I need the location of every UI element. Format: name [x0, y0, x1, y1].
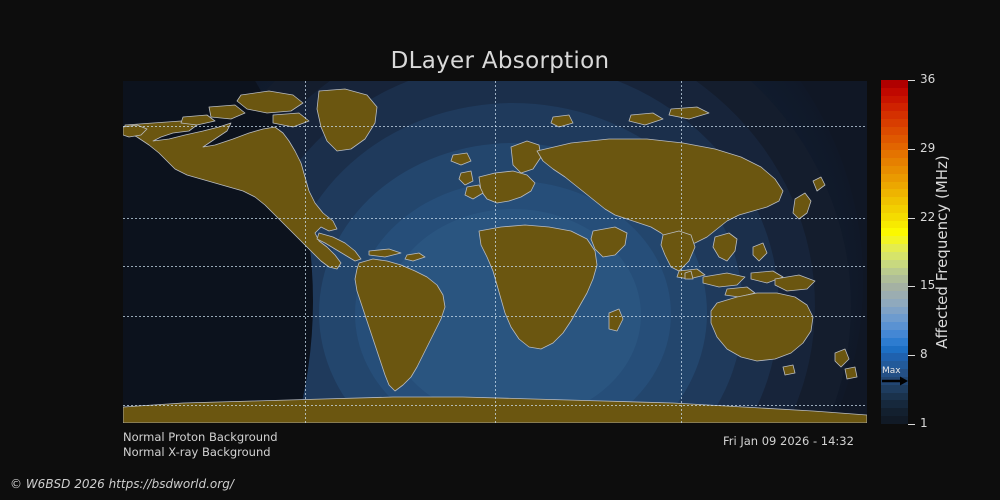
- arrow-right-icon: [882, 375, 908, 387]
- timestamp: Fri Jan 09 2026 - 14:32: [723, 434, 854, 448]
- colorbar-segment: [881, 143, 908, 151]
- status-xray-background: Normal X-ray Background: [123, 445, 271, 459]
- colorbar-segment: [881, 268, 908, 276]
- colorbar-max-marker: Max: [881, 366, 909, 388]
- colorbar-segment: [881, 182, 908, 190]
- colorbar-segment: [881, 314, 908, 322]
- colorbar-segment: [881, 127, 908, 135]
- colorbar-segment: [881, 221, 908, 229]
- colorbar-tick-label: 1: [920, 416, 928, 430]
- colorbar-segment: [881, 88, 908, 96]
- colorbar-segment: [881, 228, 908, 236]
- colorbar-segment: [881, 353, 908, 361]
- colorbar-segment: [881, 213, 908, 221]
- colorbar-segment: [881, 189, 908, 197]
- colorbar-segment: [881, 400, 908, 408]
- colorbar-segment: [881, 150, 908, 158]
- colorbar-segment: [881, 299, 908, 307]
- status-proton-background: Normal Proton Background: [123, 430, 278, 444]
- colorbar-segment: [881, 307, 908, 315]
- colorbar-segment: [881, 236, 908, 244]
- colorbar-segment: [881, 119, 908, 127]
- colorbar-segment: [881, 252, 908, 260]
- app-root: DLayer Absorption: [0, 0, 1000, 500]
- gridline-meridian-west: [305, 81, 306, 423]
- colorbar-segment: [881, 393, 908, 401]
- colorbar-segment: [881, 103, 908, 111]
- colorbar-segment: [881, 205, 908, 213]
- colorbar-segment: [881, 111, 908, 119]
- colorbar-segment: [881, 283, 908, 291]
- colorbar-segment: [881, 96, 908, 104]
- colorbar-axis-label: Affected Frequency (MHz): [932, 80, 952, 424]
- copyright-notice: © W6BSD 2026 https://bsdworld.org/: [10, 477, 234, 491]
- colorbar-axis-label-text: Affected Frequency (MHz): [933, 155, 951, 349]
- colorbar-tick-mark: [908, 149, 915, 150]
- colorbar-segment: [881, 338, 908, 346]
- colorbar-segment: [881, 322, 908, 330]
- gridline-meridian-east: [681, 81, 682, 423]
- colorbar-segment: [881, 135, 908, 143]
- colorbar-segment: [881, 330, 908, 338]
- colorbar-segment: [881, 158, 908, 166]
- colorbar-tick-mark: [908, 286, 915, 287]
- colorbar-segment: [881, 408, 908, 416]
- gridline-meridian-prime: [495, 81, 496, 423]
- colorbar-segment: [881, 291, 908, 299]
- page-title: DLayer Absorption: [0, 48, 1000, 74]
- colorbar-segment: [881, 80, 908, 88]
- colorbar-segment: [881, 260, 908, 268]
- colorbar-tick-mark: [908, 355, 915, 356]
- world-map[interactable]: [123, 81, 867, 423]
- colorbar-tick-label: 8: [920, 347, 928, 361]
- colorbar-segment: [881, 416, 908, 424]
- colorbar-segment: [881, 166, 908, 174]
- colorbar-segment: [881, 244, 908, 252]
- colorbar-segment: [881, 197, 908, 205]
- colorbar-segment: [881, 174, 908, 182]
- colorbar-tick-mark: [908, 424, 915, 425]
- colorbar-tick-mark: [908, 80, 915, 81]
- colorbar-segment: [881, 275, 908, 283]
- colorbar-segment: [881, 346, 908, 354]
- colorbar-tick-mark: [908, 218, 915, 219]
